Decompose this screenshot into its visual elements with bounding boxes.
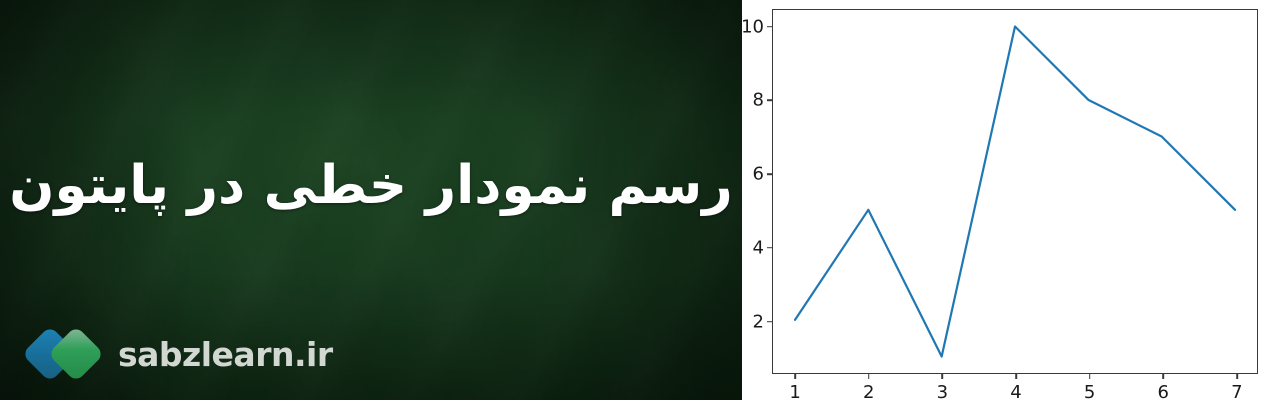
x-axis-tick-mark: [1236, 373, 1238, 379]
y-axis-tick-label: 6: [753, 164, 764, 185]
y-axis-tick-mark: [767, 247, 773, 249]
y-axis-tick-label: 2: [753, 311, 764, 332]
screenshot-root: رسم نمودار خطی در پایتون sabzlearn.ir 24…: [0, 0, 1280, 400]
x-axis-tick-mark: [1162, 373, 1164, 379]
x-axis-tick-label: 2: [863, 382, 874, 400]
x-axis-tick-label: 5: [1084, 382, 1095, 400]
line-series-svg: [773, 10, 1257, 373]
logo-wordmark: sabzlearn.ir: [118, 338, 333, 371]
y-axis-tick-mark: [767, 173, 773, 175]
y-axis-tick-label: 4: [753, 237, 764, 258]
x-axis-tick-label: 6: [1158, 382, 1169, 400]
x-axis-tick-label: 3: [937, 382, 948, 400]
y-axis-tick-label: 10: [741, 16, 764, 37]
x-axis-tick-mark: [942, 373, 944, 379]
page-title: رسم نمودار خطی در پایتون: [30, 143, 712, 229]
x-axis-tick-mark: [794, 373, 796, 379]
matplotlib-figure: 2468101234567: [742, 0, 1280, 400]
plot-axes: 2468101234567: [772, 9, 1258, 374]
x-axis-tick-label: 1: [789, 382, 800, 400]
line-series-0: [795, 26, 1235, 356]
x-axis-tick-label: 7: [1231, 382, 1242, 400]
y-axis-tick-label: 8: [753, 90, 764, 111]
y-axis-tick-mark: [767, 100, 773, 102]
chart-panel: 2468101234567: [742, 0, 1280, 400]
x-axis-tick-label: 4: [1010, 382, 1021, 400]
banner-panel: رسم نمودار خطی در پایتون sabzlearn.ir: [0, 0, 742, 400]
y-axis-tick-mark: [767, 321, 773, 323]
site-logo: sabzlearn.ir: [30, 326, 333, 382]
x-axis-tick-mark: [868, 373, 870, 379]
sabzlearn-logo-icon: [30, 326, 104, 382]
y-axis-tick-mark: [767, 26, 773, 28]
x-axis-tick-mark: [1089, 373, 1091, 379]
x-axis-tick-mark: [1015, 373, 1017, 379]
